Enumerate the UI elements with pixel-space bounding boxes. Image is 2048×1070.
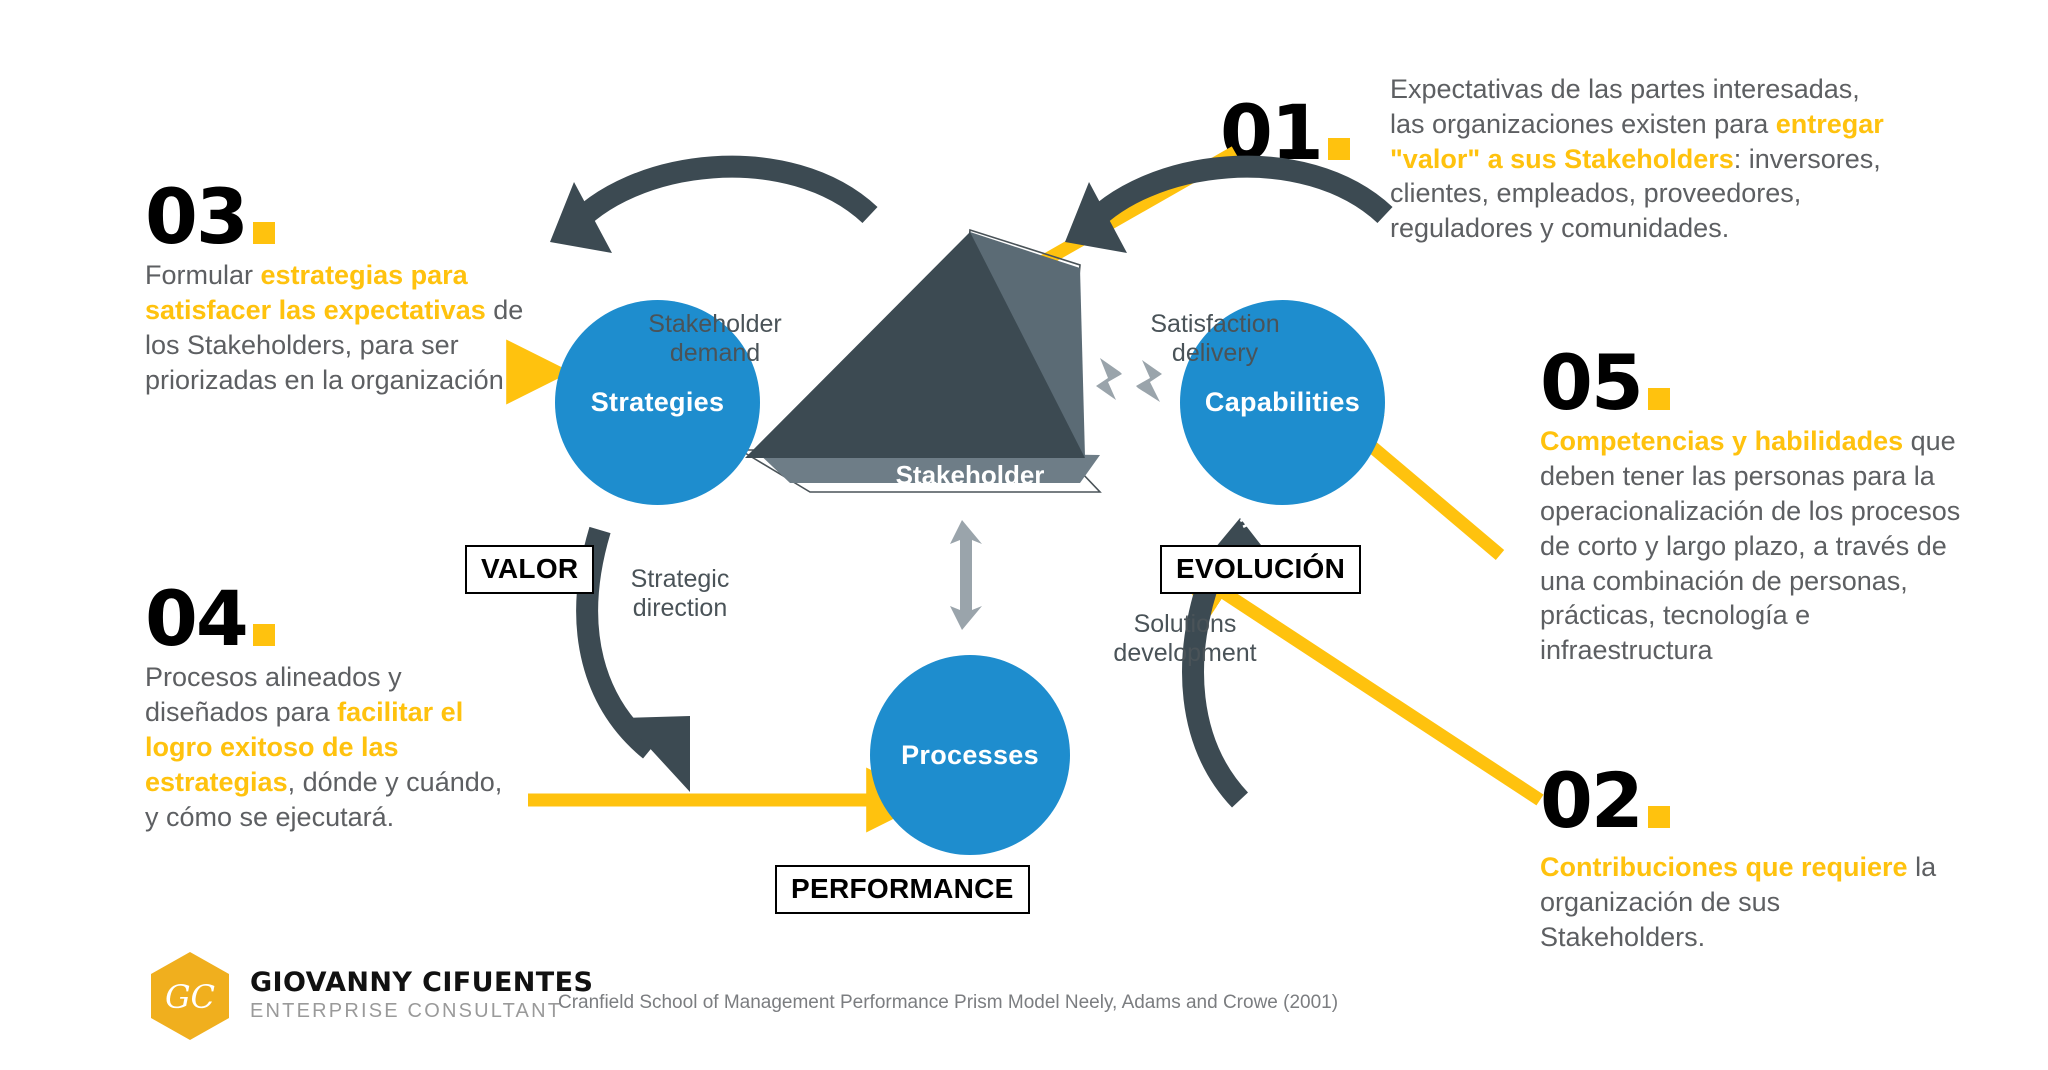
flow-label-line2: demand <box>600 339 830 368</box>
tag-performance: PERFORMANCE <box>775 865 1030 914</box>
tag-evolucion: EVOLUCIÓN <box>1160 545 1361 594</box>
flow-label-satisfaction-delivery: Satisfaction delivery <box>1100 310 1330 367</box>
flow-label-solutions-development: Solutions development <box>1070 610 1300 667</box>
flow-label-stakeholder-demand: Stakeholder demand <box>600 310 830 367</box>
node-processes-label: Processes <box>901 740 1039 771</box>
curved-arrow-top-left <box>550 167 870 253</box>
flow-label-line2: direction <box>570 594 790 623</box>
performance-prism-diagram: Stakeholder satisfaction Stakeholder con… <box>540 120 1400 920</box>
source-caption: Cranfield School of Management Performan… <box>558 992 1338 1014</box>
flow-label-line1: Stakeholder <box>600 310 830 339</box>
node-capabilities-label: Capabilities <box>1205 387 1360 418</box>
flow-label-line2: delivery <box>1100 339 1330 368</box>
flow-label-line2: development <box>1070 639 1300 668</box>
infographic-canvas: 03 Formular estrategias para satisfacer … <box>0 0 2048 1070</box>
logo-tagline: ENTERPRISE CONSULTANT <box>250 999 593 1024</box>
brand-logo: GC GIOVANNY CIFUENTES ENTERPRISE CONSULT… <box>148 950 593 1042</box>
hexagon-logo-icon: GC <box>148 950 232 1042</box>
flow-label-line1: Satisfaction <box>1100 310 1330 339</box>
curved-arrow-top-right <box>1065 167 1385 253</box>
logo-monogram: GC <box>165 978 215 1016</box>
flow-label-line1: Strategic <box>570 565 790 594</box>
bidirectional-connector-bottom <box>950 520 982 630</box>
node-processes[interactable]: Processes <box>870 655 1070 855</box>
logo-name: GIOVANNY CIFUENTES <box>250 968 593 998</box>
logo-wordmark: GIOVANNY CIFUENTES ENTERPRISE CONSULTANT <box>250 968 593 1025</box>
node-strategies-label: Strategies <box>591 387 725 418</box>
flow-label-line1: Solutions <box>1070 610 1300 639</box>
flow-label-strategic-direction: Strategic direction <box>570 565 790 622</box>
